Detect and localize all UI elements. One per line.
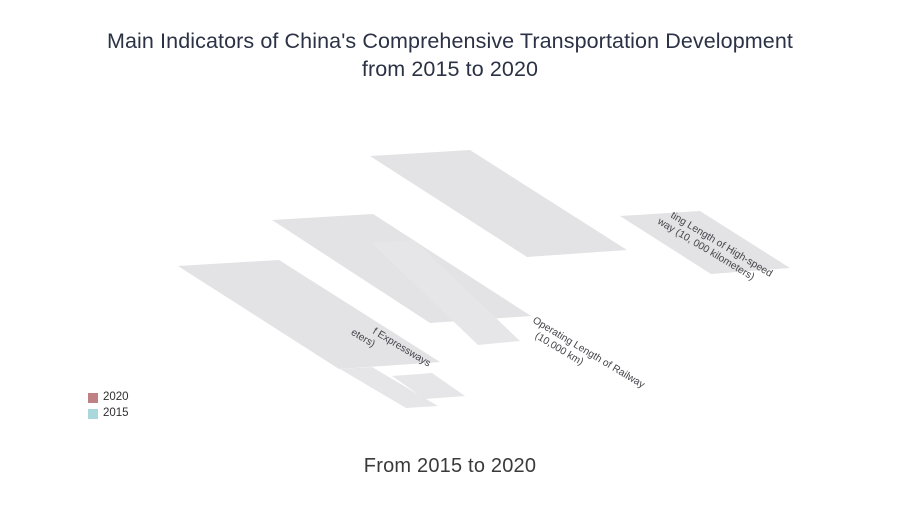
gridline-bands (178, 150, 790, 408)
axis-caption: From 2015 to 2020 (0, 455, 900, 478)
chart-plot-3d: f Expressways eters) Operating Length of… (0, 0, 900, 506)
chart-legend: 2020 2015 (88, 391, 129, 423)
legend-label-2020: 2020 (103, 392, 129, 404)
legend-label-2015: 2015 (103, 408, 129, 420)
series-label-railway-line1: Operating Length of Railway (530, 315, 647, 391)
legend-item-2015[interactable]: 2015 (88, 407, 129, 421)
series-label-railway: Operating Length of Railway (10,000 km) (524, 315, 647, 401)
legend-swatch-2015 (88, 409, 98, 419)
legend-swatch-2020 (88, 393, 98, 403)
legend-item-2020[interactable]: 2020 (88, 391, 129, 405)
slide-canvas: Main Indicators of China's Comprehensive… (0, 0, 900, 506)
